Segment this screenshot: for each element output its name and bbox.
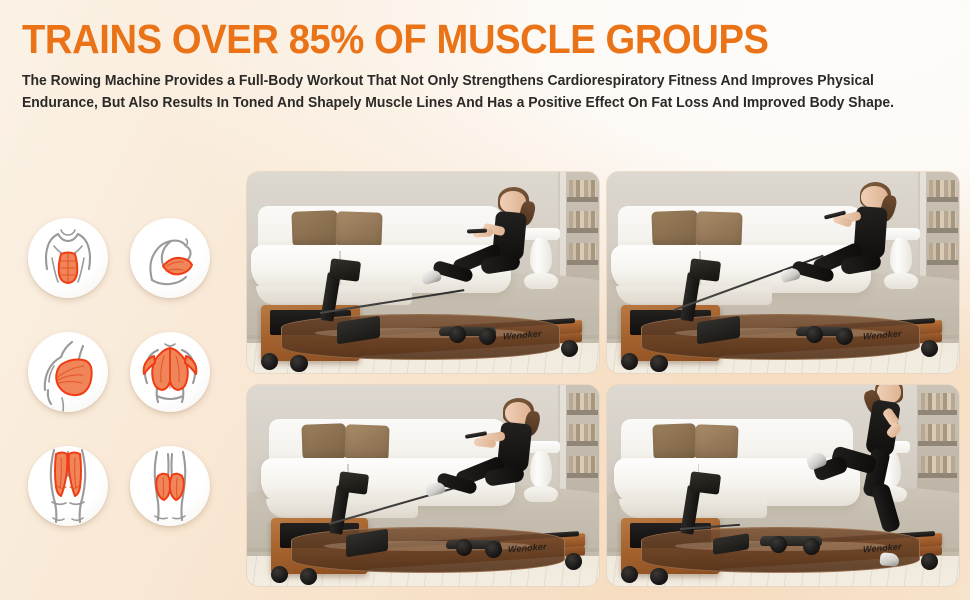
product-photo-top-right: Wenoker — [607, 172, 959, 373]
product-photo-grid: Wenoker — [247, 172, 959, 586]
throw-pillow — [292, 211, 339, 247]
throw-pillow — [336, 211, 383, 247]
console-monitor — [338, 472, 369, 495]
biceps-muscle-icon — [130, 218, 210, 298]
throw-pillow — [652, 211, 699, 247]
subtitle-line-2: Endurance, But Also Results In Toned And… — [22, 92, 948, 114]
product-feature-poster: TRAINS OVER 85% OF MUSCLE GROUPS The Row… — [0, 0, 970, 600]
throw-pillow — [301, 424, 347, 460]
console-monitor — [329, 259, 361, 283]
subtitle-line-1: The Rowing Machine Provides a Full-Body … — [22, 70, 948, 92]
glutes-muscle-icon — [28, 332, 108, 412]
product-photo-top-left: Wenoker — [247, 172, 599, 373]
person-lunging — [801, 385, 949, 562]
console-monitor — [689, 472, 721, 496]
throw-pillow — [653, 424, 697, 460]
person-rowing-curl — [790, 180, 945, 329]
muscle-group-icon-list — [24, 218, 220, 538]
page-title: TRAINS OVER 85% OF MUSCLE GROUPS — [22, 16, 887, 62]
person-rowing — [430, 184, 585, 329]
throw-pillow — [695, 424, 739, 460]
throw-pillow — [344, 424, 390, 460]
abs-muscle-icon — [28, 218, 108, 298]
person-rowing-extended — [434, 395, 589, 542]
back-muscle-icon — [130, 332, 210, 412]
product-photo-bottom-left: Wenoker — [247, 385, 599, 586]
header: TRAINS OVER 85% OF MUSCLE GROUPS The Row… — [22, 16, 952, 114]
console-monitor — [689, 259, 721, 283]
throw-pillow — [696, 211, 743, 247]
calves-muscle-icon — [130, 446, 210, 526]
quads-muscle-icon — [28, 446, 108, 526]
page-subtitle: The Rowing Machine Provides a Full-Body … — [22, 70, 948, 114]
product-photo-bottom-right: Wenoker — [607, 385, 959, 586]
